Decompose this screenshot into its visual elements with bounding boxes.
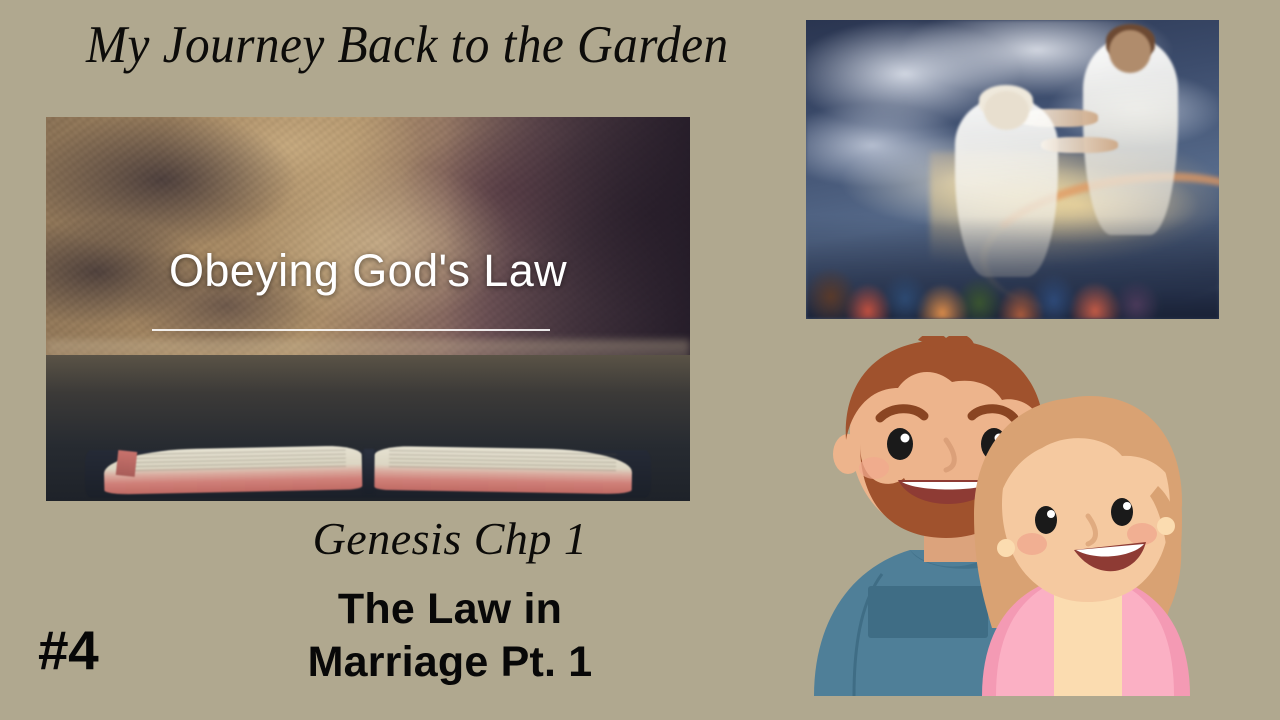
bible-gutter bbox=[364, 449, 374, 494]
woman-eye-right bbox=[1111, 498, 1133, 526]
woman-earring-right bbox=[1157, 517, 1175, 535]
bride-head bbox=[984, 91, 1029, 130]
man-eye-highlight-left bbox=[901, 434, 910, 443]
caption-underline bbox=[152, 329, 550, 331]
woman-eye-highlight-left bbox=[1047, 510, 1055, 518]
subtitle-line-1: The Law in bbox=[150, 583, 750, 636]
photo-desk bbox=[46, 355, 690, 501]
woman-earring-left bbox=[997, 539, 1015, 557]
woman-figure bbox=[974, 396, 1190, 696]
slide-subtitle: The Law in Marriage Pt. 1 bbox=[150, 583, 750, 689]
bible-photo-caption: Obeying God's Law bbox=[46, 245, 690, 297]
bride-arm bbox=[1041, 137, 1117, 153]
bible-page-right bbox=[374, 446, 632, 494]
woman-eye-left bbox=[1035, 506, 1057, 534]
subtitle-line-2: Marriage Pt. 1 bbox=[150, 636, 750, 689]
bible-photo: Obeying God's Law bbox=[46, 117, 690, 501]
man-eye-left bbox=[887, 428, 913, 460]
bible-page-left bbox=[104, 446, 362, 495]
woman-cheek-right bbox=[1127, 523, 1157, 545]
bible-text-lines bbox=[390, 450, 617, 474]
couple-illustration-svg bbox=[806, 336, 1196, 696]
bible-text-lines bbox=[119, 450, 346, 475]
episode-number: #4 bbox=[38, 620, 98, 680]
painting-crowd bbox=[806, 217, 1219, 319]
couple-illustration bbox=[806, 336, 1196, 696]
woman-cheek-left bbox=[1017, 533, 1047, 555]
woman-eye-highlight-right bbox=[1123, 502, 1131, 510]
scripture-reference: Genesis Chp 1 bbox=[150, 512, 750, 566]
presentation-slide: My Journey Back to the Garden Obeying Go… bbox=[0, 0, 1280, 720]
rapture-painting bbox=[806, 20, 1219, 319]
man-sweater-patch bbox=[868, 586, 988, 638]
man-cheek-left bbox=[859, 457, 889, 479]
page-title: My Journey Back to the Garden bbox=[86, 12, 663, 78]
bible-ribbon bbox=[116, 450, 138, 477]
